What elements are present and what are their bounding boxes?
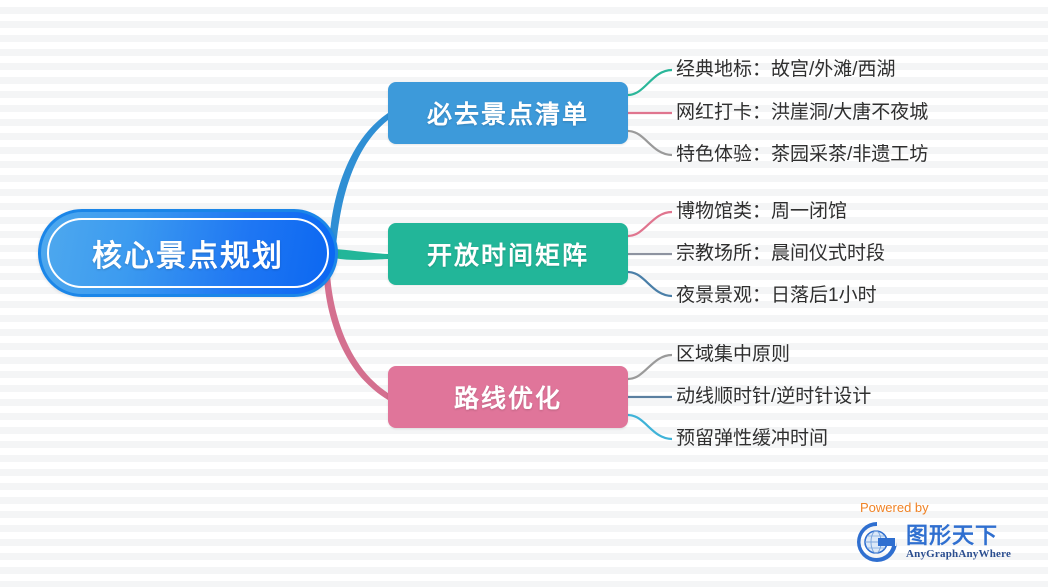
brand-text-block: 图形天下 AnyGraphAnyWhere	[906, 524, 1011, 561]
main-connector-2	[324, 272, 388, 400]
brand-name-en: AnyGraphAnyWhere	[906, 548, 1011, 561]
mindmap-canvas: 核心景点规划 必去景点清单 开放时间矩阵 路线优化 经典地标：故宫/外滩/西湖 …	[0, 0, 1048, 587]
brand-row: 图形天下 AnyGraphAnyWhere	[854, 519, 1011, 565]
leaf-connector-1-2	[628, 272, 672, 296]
leaf-node[interactable]: 特色体验：茶园采茶/非遗工坊	[676, 145, 928, 165]
leaf-node[interactable]: 预留弹性缓冲时间	[676, 429, 828, 449]
leaf-node[interactable]: 宗教场所：晨间仪式时段	[676, 244, 885, 264]
anygraphanywhere-logo-icon	[854, 519, 900, 565]
leaf-connector-0-2	[628, 131, 672, 155]
leaf-node[interactable]: 网红打卡：洪崖洞/大唐不夜城	[676, 103, 928, 123]
brand-name-cn: 图形天下	[906, 524, 1011, 548]
branch-node-label: 开放时间矩阵	[427, 236, 589, 272]
branch-node-label: 路线优化	[454, 379, 562, 415]
leaf-connector-1-0	[628, 212, 672, 236]
leaf-node[interactable]: 经典地标：故宫/外滩/西湖	[676, 60, 896, 80]
branch-node-label: 必去景点清单	[427, 95, 589, 131]
branch-node-opening-hours[interactable]: 开放时间矩阵	[388, 223, 628, 285]
leaf-node[interactable]: 博物馆类：周一闭馆	[676, 202, 847, 222]
branch-node-route-optimization[interactable]: 路线优化	[388, 366, 628, 428]
watermark: Powered by 图形天下 AnyGraphAnyWhere	[848, 500, 1040, 570]
leaf-connector-2-0	[628, 355, 672, 379]
powered-by-label: Powered by	[860, 500, 929, 515]
branch-node-must-visit[interactable]: 必去景点清单	[388, 82, 628, 144]
root-node[interactable]: 核心景点规划	[38, 209, 338, 297]
leaf-node[interactable]: 夜景景观：日落后1小时	[676, 286, 877, 306]
root-node-label: 核心景点规划	[92, 231, 284, 275]
leaf-node[interactable]: 区域集中原则	[676, 345, 790, 365]
leaf-connector-0-0	[628, 70, 672, 95]
leaf-node[interactable]: 动线顺时针/逆时针设计	[676, 387, 871, 407]
main-connector-1	[334, 249, 388, 260]
leaf-connector-2-2	[628, 415, 672, 439]
main-connector-0	[330, 113, 388, 244]
